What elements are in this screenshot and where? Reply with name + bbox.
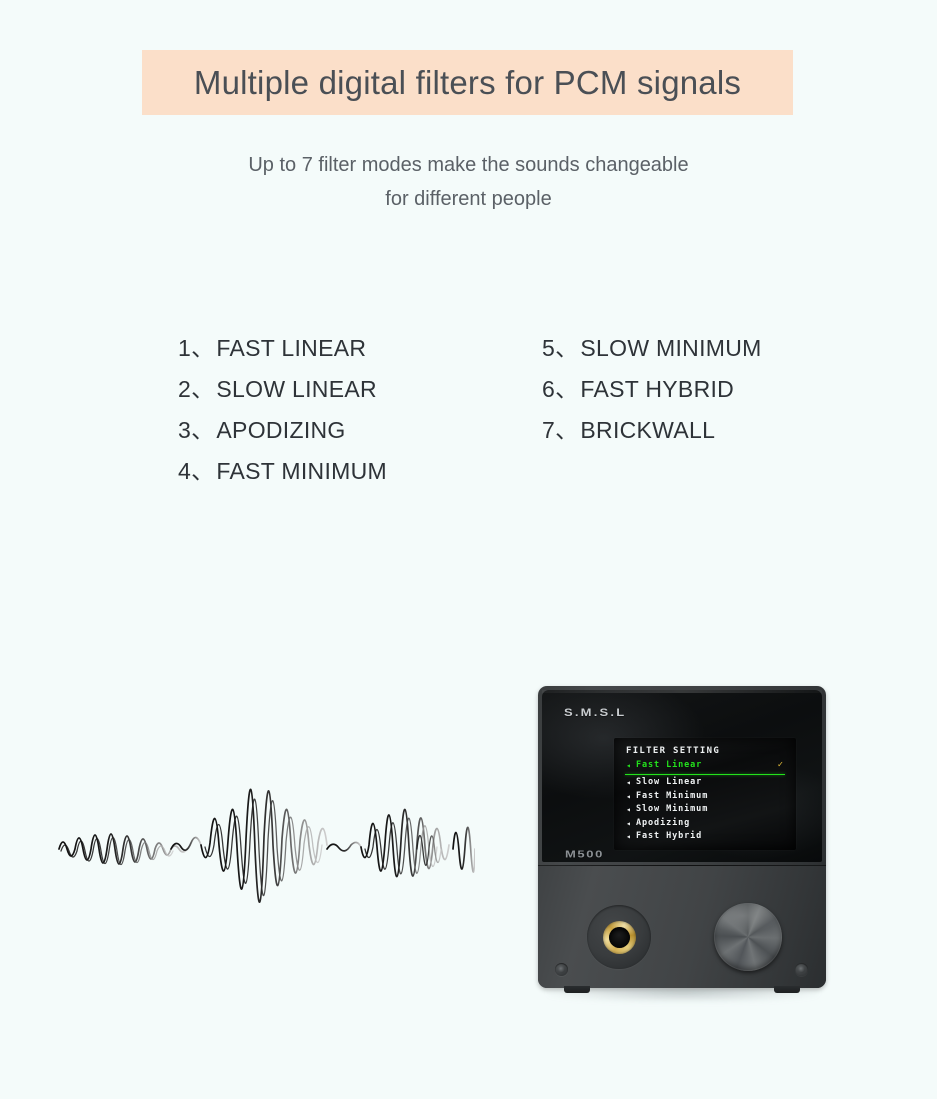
lcd-menu-item-label: Fast Hybrid [636,830,702,844]
subtitle-line-1: Up to 7 filter modes make the sounds cha… [0,148,937,182]
device-bottom-panel [538,866,826,988]
smsl-m500-dac-device: S.M.S.L FILTER SETTING ◂ Fast Linear ✓ ◂… [538,686,826,1002]
lcd-menu-item-label: Fast Minimum [636,790,708,804]
filter-list-left-column: 1、FAST LINEAR 2、SLOW LINEAR 3、APODIZING … [178,328,387,492]
list-item: 1、FAST LINEAR [178,328,387,369]
list-item-label: APODIZING [216,417,345,443]
lcd-selection-underline [625,774,785,776]
list-item-number: 5、 [542,335,578,361]
lcd-menu-item-fast-linear[interactable]: ◂ Fast Linear ✓ [614,759,796,773]
device-foot [564,986,590,993]
device-body: S.M.S.L FILTER SETTING ◂ Fast Linear ✓ ◂… [538,686,826,988]
list-item-number: 7、 [542,417,578,443]
lcd-menu-item-label: Slow Minimum [636,803,708,817]
left-triangle-icon: ◂ [626,759,632,773]
list-item: 5、SLOW MINIMUM [542,328,762,369]
left-triangle-icon: ◂ [626,830,632,844]
device-model-name: M500 [565,848,604,860]
check-icon: ✓ [778,759,784,773]
list-item-number: 2、 [178,376,214,402]
title-banner: Multiple digital filters for PCM signals [142,50,793,115]
left-triangle-icon: ◂ [626,790,632,804]
list-item-label: FAST LINEAR [216,335,366,361]
list-item-number: 1、 [178,335,214,361]
filter-list-right-column: 5、SLOW MINIMUM 6、FAST HYBRID 7、BRICKWALL [542,328,762,492]
lcd-menu-item-fast-minimum[interactable]: ◂ Fast Minimum [614,790,796,804]
left-triangle-icon: ◂ [626,776,632,790]
lcd-menu-item-slow-linear[interactable]: ◂ Slow Linear [614,776,796,790]
list-item-label: SLOW MINIMUM [580,335,761,361]
jack-gold-ring [603,921,636,954]
list-item: 2、SLOW LINEAR [178,369,387,410]
lcd-menu-list[interactable]: ◂ Fast Linear ✓ ◂ Slow Linear ◂ Fast Min… [614,759,796,844]
device-lcd-screen[interactable]: FILTER SETTING ◂ Fast Linear ✓ ◂ Slow Li… [614,738,796,850]
lcd-menu-item-apodizing[interactable]: ◂ Apodizing [614,817,796,831]
device-foot [774,986,800,993]
list-item-label: BRICKWALL [580,417,715,443]
lcd-screen-title: FILTER SETTING [626,745,796,757]
list-item-label: FAST HYBRID [580,376,734,402]
lcd-menu-item-label: Apodizing [636,817,690,831]
screw-icon [555,963,568,976]
list-item: 7、BRICKWALL [542,410,762,451]
lcd-menu-item-slow-minimum[interactable]: ◂ Slow Minimum [614,803,796,817]
subtitle-line-2: for different people [0,182,937,216]
page-title: Multiple digital filters for PCM signals [194,64,741,102]
jack-hole [609,927,630,948]
lcd-menu-item-label: Fast Linear [636,759,702,773]
audio-waveform-graphic [55,742,475,957]
list-item-number: 4、 [178,458,214,484]
lcd-menu-item-fast-hybrid[interactable]: ◂ Fast Hybrid [614,830,796,844]
screw-icon [795,963,808,976]
list-item-label: FAST MINIMUM [216,458,387,484]
list-item-label: SLOW LINEAR [216,376,377,402]
list-item: 4、FAST MINIMUM [178,451,387,492]
volume-knob[interactable] [714,903,782,971]
brand-logo: S.M.S.L [564,706,626,718]
filter-mode-list: 1、FAST LINEAR 2、SLOW LINEAR 3、APODIZING … [178,328,798,492]
list-item: 3、APODIZING [178,410,387,451]
list-item-number: 6、 [542,376,578,402]
subtitle: Up to 7 filter modes make the sounds cha… [0,148,937,216]
left-triangle-icon: ◂ [626,817,632,831]
device-top-panel: S.M.S.L FILTER SETTING ◂ Fast Linear ✓ ◂… [542,690,822,862]
left-triangle-icon: ◂ [626,803,632,817]
list-item: 6、FAST HYBRID [542,369,762,410]
list-item-number: 3、 [178,417,214,443]
headphone-jack[interactable] [587,905,651,969]
lcd-menu-item-label: Slow Linear [636,776,702,790]
